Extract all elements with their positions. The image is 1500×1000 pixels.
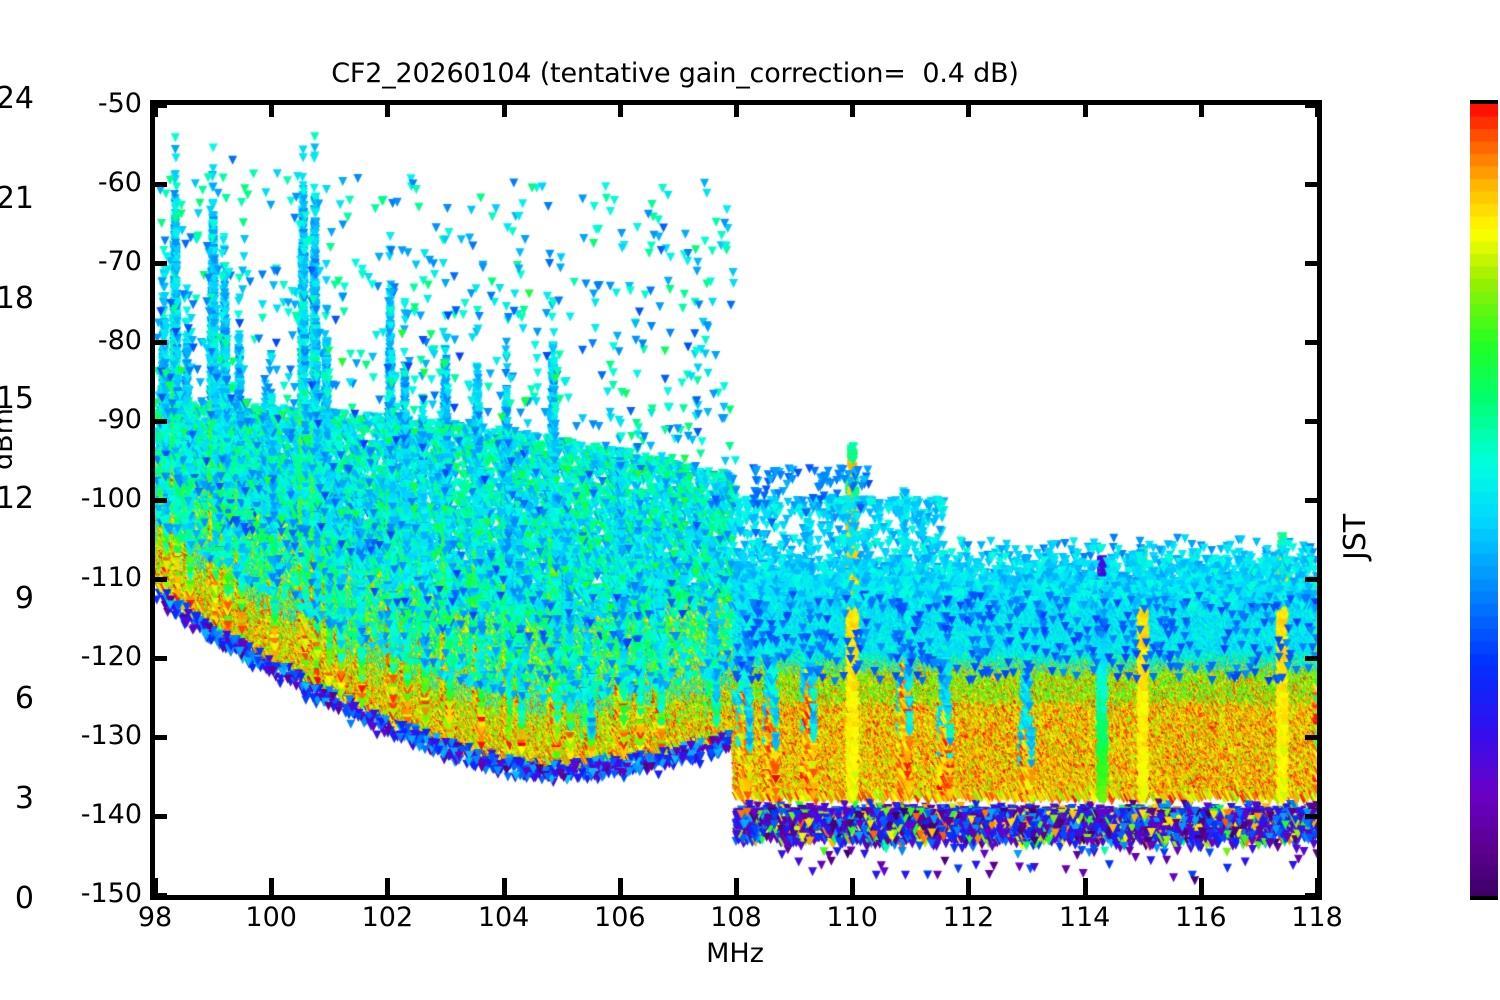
y-tick-label: -70 [98,246,142,277]
y-tick-mark [1305,814,1322,819]
y-tick-label: -110 [81,562,142,593]
y-tick-mark [150,498,167,503]
x-tick-mark [734,878,739,895]
x-tick-mark [966,100,971,117]
x-tick-mark [1199,878,1204,895]
x-tick-mark [618,100,623,117]
x-tick-mark [1315,878,1320,895]
x-tick-mark [1083,878,1088,895]
y-tick-label: -80 [98,325,142,356]
y-tick-mark [150,735,167,740]
y-tick-mark [1305,498,1322,503]
x-tick-label: 118 [1272,902,1362,933]
y-tick-mark [1305,419,1322,424]
x-tick-mark [1315,100,1320,117]
colorbar-gradient [1470,104,1498,900]
x-tick-mark [269,878,274,895]
x-tick-mark [850,878,855,895]
y-tick-mark [150,577,167,582]
colorbar-tick-label: 21 [0,181,34,216]
y-tick-mark [150,340,167,345]
x-tick-mark [502,100,507,117]
page-title: CF2_20260104 (tentative gain_correction=… [0,58,1350,89]
y-axis-label: dBm [0,408,19,470]
y-tick-label: -100 [81,483,142,514]
colorbar-tick-label: 0 [15,881,34,916]
x-tick-label: 102 [342,902,432,933]
x-tick-mark [385,100,390,117]
x-tick-mark [1083,100,1088,117]
x-tick-mark [269,100,274,117]
y-tick-label: -90 [98,404,142,435]
x-tick-label: 110 [807,902,897,933]
colorbar-tick-label: 6 [15,681,34,716]
x-tick-mark [734,100,739,117]
colorbar-tick-label: 24 [0,81,34,116]
x-tick-label: 104 [459,902,549,933]
y-tick-mark [1305,340,1322,345]
x-tick-label: 98 [110,902,200,933]
colorbar-tick-label: 12 [0,481,34,516]
y-tick-mark [150,419,167,424]
x-tick-label: 114 [1040,902,1130,933]
y-tick-mark [1305,735,1322,740]
plot-area [150,100,1322,900]
x-tick-mark [153,100,158,117]
x-tick-mark [850,100,855,117]
x-tick-mark [618,878,623,895]
x-tick-mark [966,878,971,895]
colorbar-tick-label: 9 [15,581,34,616]
y-tick-mark [1305,261,1322,266]
y-tick-mark [150,261,167,266]
x-tick-label: 108 [691,902,781,933]
colorbar-tick-label: 3 [15,781,34,816]
colorbar-tick-label: 18 [0,281,34,316]
x-tick-mark [385,878,390,895]
figure-root: CF2_20260104 (tentative gain_correction=… [0,0,1500,1000]
x-tick-label: 100 [226,902,316,933]
y-tick-label: -120 [81,641,142,672]
x-tick-label: 106 [575,902,665,933]
x-tick-mark [1199,100,1204,117]
y-tick-label: -50 [98,88,142,119]
x-tick-mark [502,878,507,895]
x-axis-label: MHz [0,938,1470,969]
y-tick-label: -140 [81,799,142,830]
y-tick-mark [1305,577,1322,582]
colorbar-tick-label: 15 [0,381,34,416]
colorbar-label: JST [1338,514,1373,560]
x-tick-label: 116 [1156,902,1246,933]
x-tick-mark [153,878,158,895]
y-tick-label: -60 [98,167,142,198]
x-tick-label: 112 [923,902,1013,933]
scatter-canvas [155,105,1317,895]
y-tick-label: -130 [81,720,142,751]
colorbar [1470,100,1498,900]
y-tick-mark [150,182,167,187]
y-tick-mark [150,656,167,661]
y-tick-mark [150,814,167,819]
y-tick-mark [1305,182,1322,187]
y-tick-mark [1305,656,1322,661]
